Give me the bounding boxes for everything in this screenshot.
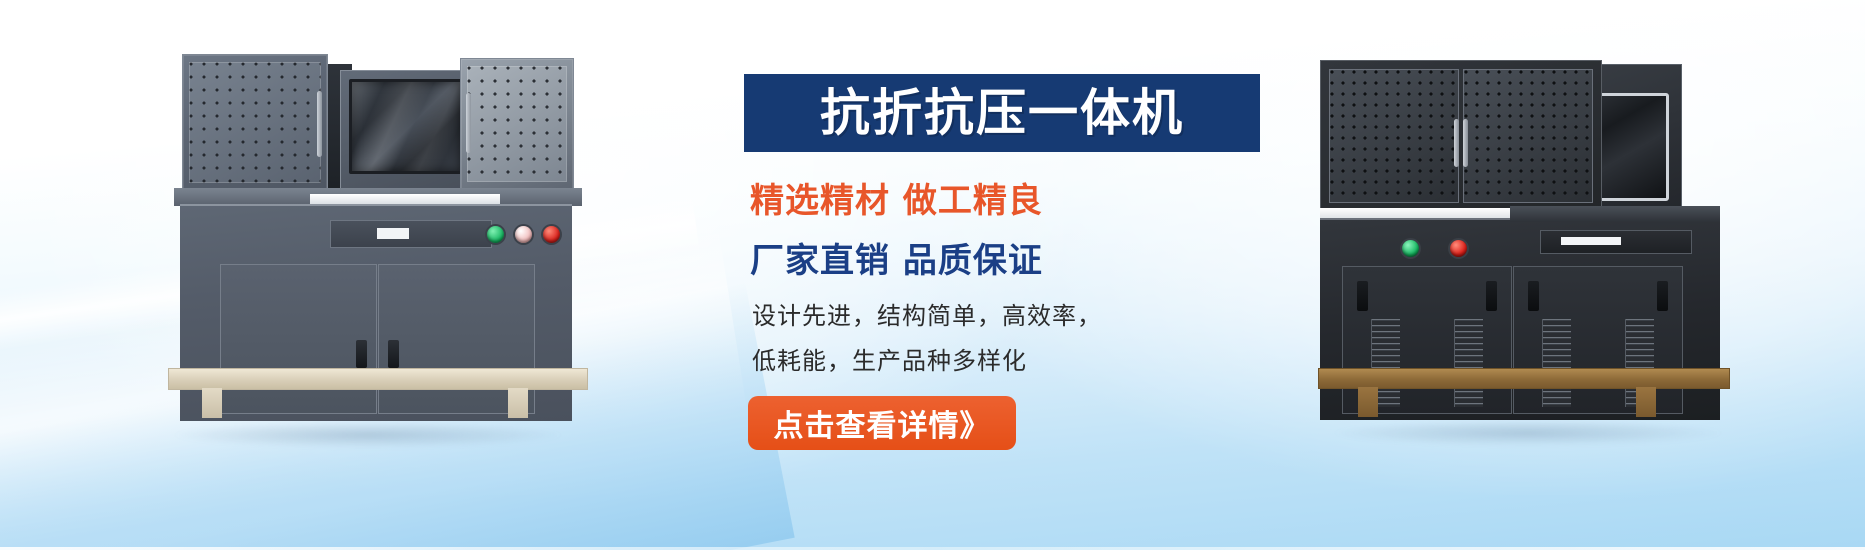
- slogan-secondary: 厂家直销 品质保证: [750, 233, 1284, 282]
- door-handle-icon: [1357, 281, 1368, 311]
- door-handle-icon: [1528, 281, 1539, 311]
- machine-top-ledge: [1510, 206, 1720, 222]
- slogan-primary: 精选精材 做工精良: [750, 173, 1284, 222]
- pallet-top-board: [168, 368, 588, 390]
- machine-shadow: [170, 422, 566, 448]
- machine-perforated-cabinet: [1320, 60, 1602, 210]
- machine-shadow: [1330, 420, 1726, 446]
- machine-perforated-cabinet-right: [460, 58, 574, 190]
- view-details-button-label: 点击查看详情》: [774, 401, 991, 445]
- cabinet-handle: [317, 91, 322, 157]
- red-stop-button: [1450, 240, 1467, 257]
- cabinet-handle: [1463, 119, 1468, 167]
- machine-control-drawer: [330, 220, 492, 248]
- door-handle-icon: [356, 340, 367, 368]
- door-handle-icon: [1486, 281, 1497, 311]
- green-indicator-light: [487, 226, 504, 243]
- machine-monitor-screen: [349, 79, 463, 174]
- description-line-2: 低耗能，生产品种多样化: [752, 341, 1284, 376]
- cabinet-handle: [1454, 119, 1459, 167]
- view-details-button[interactable]: 点击查看详情》: [748, 396, 1016, 450]
- pallet-foot: [1358, 387, 1378, 417]
- door-handle-icon: [388, 340, 399, 368]
- machine-label-plate: [1561, 237, 1621, 245]
- perforated-panel: [1329, 69, 1459, 203]
- pallet-foot: [202, 388, 222, 418]
- title-banner: 抗折抗压一体机: [744, 74, 1260, 152]
- wooden-pallet-right: [1318, 368, 1728, 418]
- machine-control-drawer: [1540, 230, 1692, 254]
- pallet-foot: [508, 388, 528, 418]
- machine-perforated-cabinet-left: [182, 54, 328, 191]
- pallet-top-board: [1318, 368, 1730, 389]
- wooden-pallet-left: [168, 368, 586, 420]
- pallet-foot: [1636, 387, 1656, 417]
- machine-monitor-housing: [340, 70, 472, 197]
- promo-banner: 抗折抗压一体机 精选精材 做工精良 厂家直销 品质保证 设计先进，结构简单，高效…: [0, 0, 1865, 550]
- perforated-panel: [189, 62, 321, 183]
- machine-label-plate: [377, 228, 409, 239]
- page-title: 抗折抗压一体机: [820, 88, 1184, 138]
- perforated-panel: [1463, 69, 1593, 203]
- cabinet-handle: [466, 93, 471, 153]
- green-indicator-light: [1402, 240, 1419, 257]
- description-line-1: 设计先进，结构简单，高效率，: [752, 296, 1284, 331]
- perforated-panel: [467, 66, 567, 182]
- door-handle-icon: [1657, 281, 1668, 311]
- banner-copy-block: 抗折抗压一体机 精选精材 做工精良 厂家直销 品质保证 设计先进，结构简单，高效…: [744, 74, 1284, 450]
- red-stop-button: [543, 226, 560, 243]
- white-indicator-light: [515, 226, 532, 243]
